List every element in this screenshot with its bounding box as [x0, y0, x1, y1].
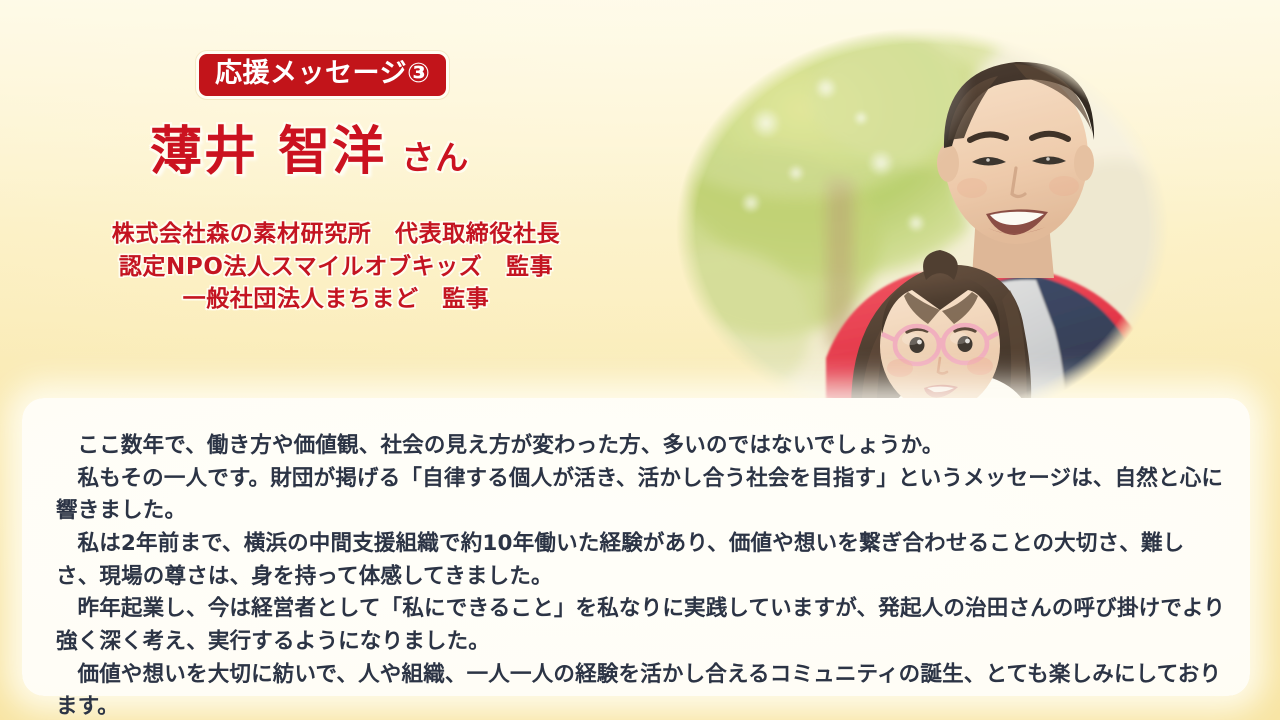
affiliation-line-3: 一般社団法人まちまど 監事	[0, 283, 672, 316]
person-name-honorific: さん	[401, 138, 469, 177]
affiliation-line-2: 認定NPO法人スマイルオブキッズ 監事	[0, 251, 672, 284]
affiliation-line-1: 株式会社森の素材研究所 代表取締役社長	[0, 218, 672, 251]
affiliation-list: 株式会社森の素材研究所 代表取締役社長 認定NPO法人スマイルオブキッズ 監事 …	[0, 218, 672, 316]
message-paragraph: 昨年起業し、今は経営者として「私にできること」を私なりに実践していますが、発起人…	[56, 593, 1226, 658]
person-name: 薄井 智洋	[150, 122, 386, 182]
message-paragraph: 私もその一人です。財団が掲げる「自律する個人が活き、活かし合う社会を目指す」とい…	[56, 463, 1226, 528]
message-paragraph: 私は2年前まで、横浜の中間支援組織で約10年働いた経験があり、価値や想いを繋ぎ合…	[56, 528, 1226, 593]
page-title: 薄井 智洋 さん	[150, 126, 469, 178]
portrait-photo	[676, 28, 1168, 428]
badge-label: 応援メッセージ③	[215, 60, 430, 87]
message-paragraph: ここ数年で、働き方や価値観、社会の見え方が変わった方、多いのではないでしょうか。	[56, 430, 1226, 463]
status-badge: 応援メッセージ③	[196, 51, 449, 99]
slide-canvas: 応援メッセージ③ 薄井 智洋 さん 株式会社森の素材研究所 代表取締役社長 認定…	[0, 0, 1280, 720]
message-body: ここ数年で、働き方や価値観、社会の見え方が変わった方、多いのではないでしょうか。…	[56, 430, 1226, 720]
portrait-photo-illustration	[676, 28, 1168, 428]
message-paragraph: 価値や想いを大切に紡いで、人や組織、一人一人の経験を活かし合えるコミュニティの誕…	[56, 659, 1226, 720]
